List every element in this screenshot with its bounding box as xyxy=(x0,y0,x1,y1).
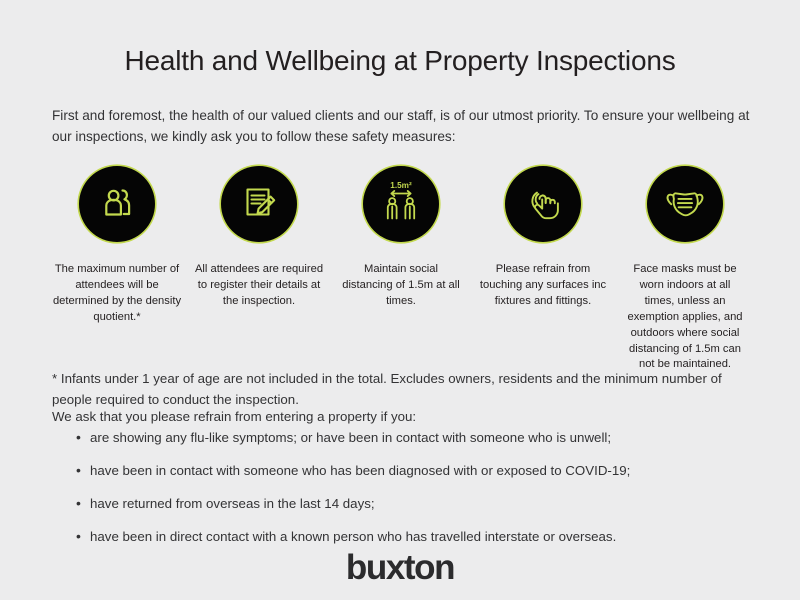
measure-caption: Please refrain from touching any surface… xyxy=(478,262,608,310)
poster-root: Health and Wellbeing at Property Inspect… xyxy=(0,0,800,600)
list-item: have returned from overseas in the last … xyxy=(90,494,790,514)
refrain-intro-text: We ask that you please refrain from ente… xyxy=(52,407,742,428)
footnote-text: * Infants under 1 year of age are not in… xyxy=(52,369,742,410)
measure-caption: All attendees are required to register t… xyxy=(191,262,327,310)
two-people-icon xyxy=(95,180,139,229)
icon-circle xyxy=(647,166,723,242)
measure-item-attendees: The maximum number of attendees will be … xyxy=(46,166,188,326)
icon-circle: 1.5m² xyxy=(363,166,439,242)
list-item: have been in direct contact with a known… xyxy=(90,527,790,547)
icon-circle xyxy=(505,166,581,242)
list-item: have been in contact with someone who ha… xyxy=(90,461,790,481)
social-distancing-icon: 1.5m² xyxy=(376,177,426,232)
icon-circle xyxy=(221,166,297,242)
measure-item-register: All attendees are required to register t… xyxy=(188,166,330,310)
measure-caption: Face masks must be worn indoors at all t… xyxy=(625,262,745,373)
document-pencil-icon xyxy=(237,180,281,229)
measure-caption: The maximum number of attendees will be … xyxy=(51,262,183,326)
measure-item-no-touching: Please refrain from touching any surface… xyxy=(472,166,614,310)
hand-touch-icon xyxy=(521,180,565,229)
refrain-bullet-list: are showing any flu-like symptoms; or ha… xyxy=(68,428,790,560)
measure-caption: Maintain social distancing of 1.5m at al… xyxy=(341,262,461,310)
brand-logo: buxton xyxy=(0,550,800,585)
measure-item-distancing: 1.5m² Maintain social distancing of 1.5m… xyxy=(330,166,472,310)
distance-label: 1.5m² xyxy=(390,181,412,190)
logo-text: buxton xyxy=(346,550,454,585)
page-title: Health and Wellbeing at Property Inspect… xyxy=(0,46,800,77)
measure-item-face-mask: Face masks must be worn indoors at all t… xyxy=(614,166,756,373)
icon-circle xyxy=(79,166,155,242)
list-item: are showing any flu-like symptoms; or ha… xyxy=(90,428,790,448)
measures-row: The maximum number of attendees will be … xyxy=(46,166,756,373)
face-mask-icon xyxy=(662,179,708,230)
intro-paragraph: First and foremost, the health of our va… xyxy=(52,105,752,147)
